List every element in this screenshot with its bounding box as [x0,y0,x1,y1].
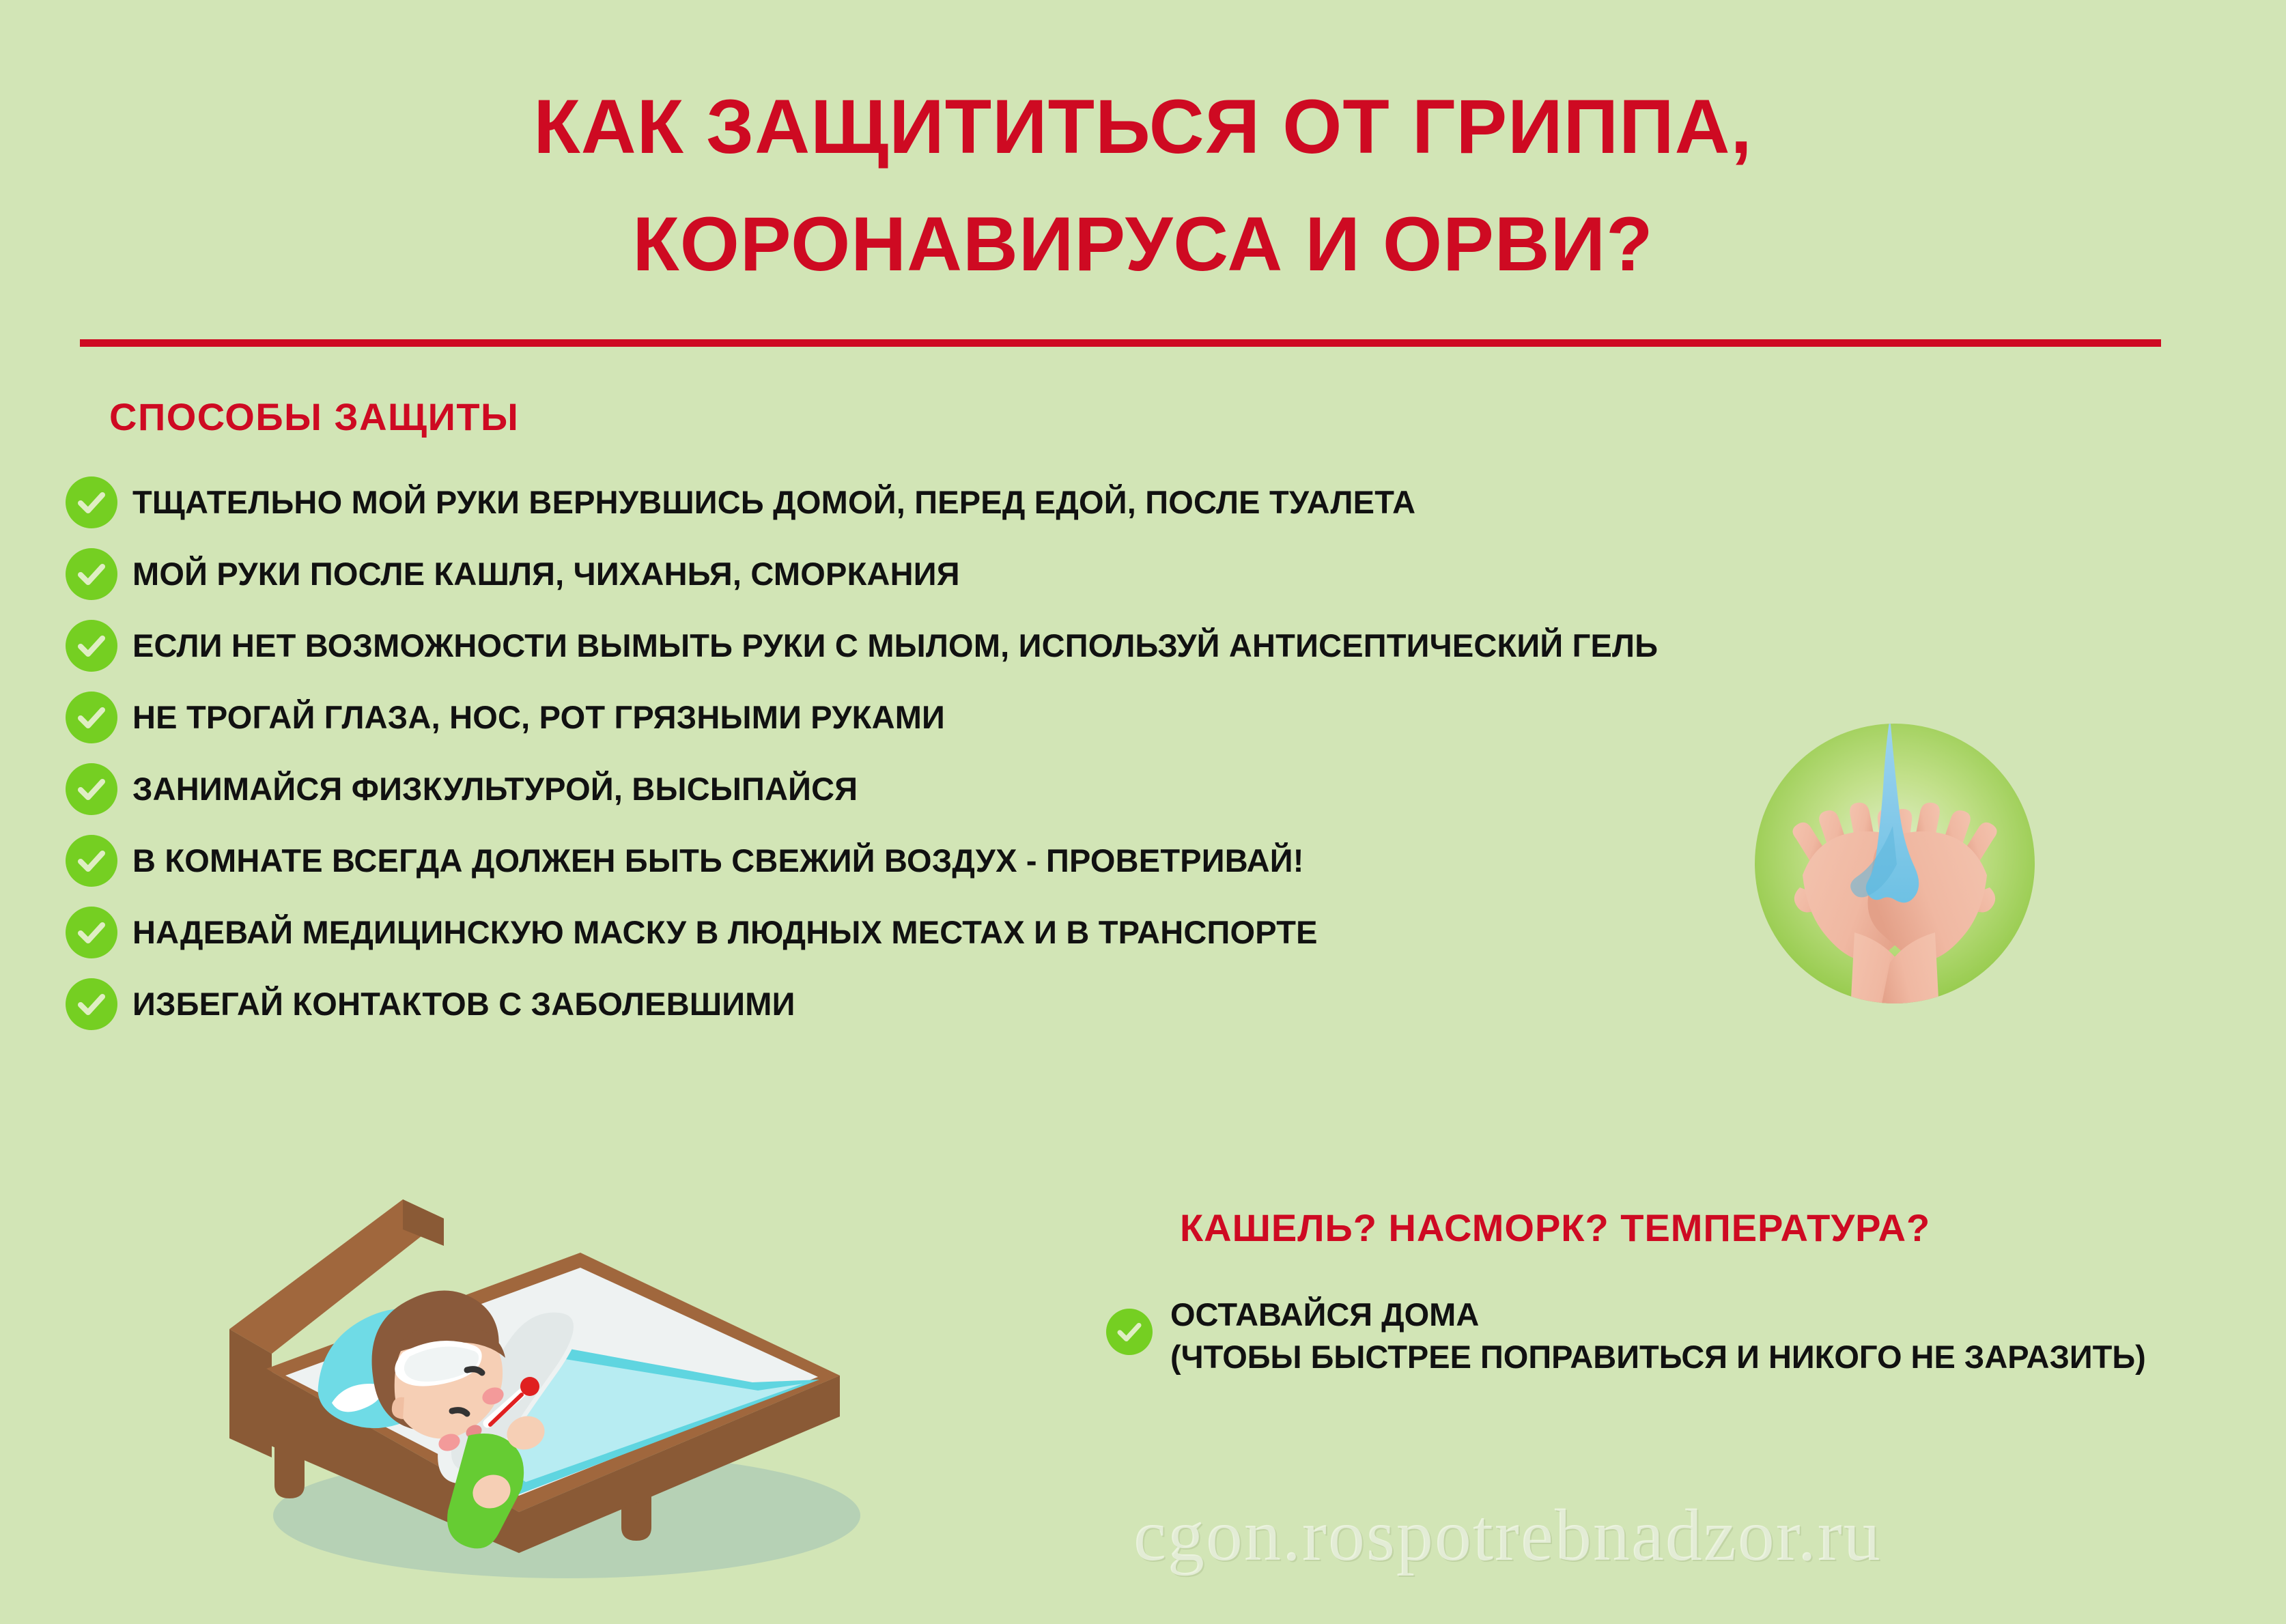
page-title: КАК ЗАЩИТИТЬСЯ ОТ ГРИППА, КОРОНАВИРУСА И… [0,68,2286,303]
list-item: ТЩАТЕЛЬНО МОЙ РУКИ ВЕРНУВШИСЬ ДОМОЙ, ПЕР… [66,476,1704,528]
list-item-label: МОЙ РУКИ ПОСЛЕ КАШЛЯ, ЧИХАНЬЯ, СМОРКАНИЯ [132,556,960,592]
check-circle-icon [66,978,117,1030]
stay-home-label: ОСТАВАЙСЯ ДОМА [1170,1296,1479,1333]
stay-home-text-group: ОСТАВАЙСЯ ДОМА (ЧТОБЫ БЫСТРЕЕ ПОПРАВИТЬС… [1170,1294,2267,1378]
check-circle-icon [66,620,117,672]
check-circle-icon [66,763,117,815]
check-circle-icon [66,476,117,528]
protection-section-heading: СПОСОБЫ ЗАЩИТЫ [109,395,519,440]
check-circle-icon [66,548,117,600]
list-item: НАДЕВАЙ МЕДИЦИНСКУЮ МАСКУ В ЛЮДНЫХ МЕСТА… [66,907,1704,958]
check-circle-icon [66,692,117,743]
sick-person-in-bed-icon [198,1171,922,1580]
protection-list: ТЩАТЕЛЬНО МОЙ РУКИ ВЕРНУВШИСЬ ДОМОЙ, ПЕР… [66,476,1704,1050]
page-title-line-2: КОРОНАВИРУСА И ОРВИ? [0,186,2286,303]
list-item-label: ЕСЛИ НЕТ ВОЗМОЖНОСТИ ВЫМЫТЬ РУКИ С МЫЛОМ… [132,628,1658,664]
list-item: ЕСЛИ НЕТ ВОЗМОЖНОСТИ ВЫМЫТЬ РУКИ С МЫЛОМ… [66,620,1704,672]
check-circle-icon [66,835,117,887]
list-item-label: НАДЕВАЙ МЕДИЦИНСКУЮ МАСКУ В ЛЮДНЫХ МЕСТА… [132,915,1318,950]
list-item-label: ИЗБЕГАЙ КОНТАКТОВ С ЗАБОЛЕВШИМИ [132,986,795,1022]
list-item: ИЗБЕГАЙ КОНТАКТОВ С ЗАБОЛЕВШИМИ [66,978,1704,1030]
list-item: ЗАНИМАЙСЯ ФИЗКУЛЬТУРОЙ, ВЫСЫПАЙСЯ [66,763,1704,815]
page-title-line-1: КАК ЗАЩИТИТЬСЯ ОТ ГРИППА, [0,68,2286,186]
list-item: В КОМНАТЕ ВСЕГДА ДОЛЖЕН БЫТЬ СВЕЖИЙ ВОЗД… [66,835,1704,887]
symptoms-heading: КАШЕЛЬ? НАСМОРК? ТЕМПЕРАТУРА? [1180,1206,1930,1251]
title-divider [80,339,2161,347]
stay-home-note: (ЧТОБЫ БЫСТРЕЕ ПОПРАВИТЬСЯ И НИКОГО НЕ З… [1170,1339,2146,1375]
list-item-label: В КОМНАТЕ ВСЕГДА ДОЛЖЕН БЫТЬ СВЕЖИЙ ВОЗД… [132,843,1304,879]
check-circle-icon [66,907,117,958]
check-circle-icon [1106,1309,1153,1355]
washing-hands-under-water-icon [1734,703,2055,1024]
list-item: МОЙ РУКИ ПОСЛЕ КАШЛЯ, ЧИХАНЬЯ, СМОРКАНИЯ [66,548,1704,600]
source-watermark: cgon.rospotrebnadzor.ru [1133,1495,1882,1577]
list-item-label: ЗАНИМАЙСЯ ФИЗКУЛЬТУРОЙ, ВЫСЫПАЙСЯ [132,771,858,807]
infographic-poster: КАК ЗАЩИТИТЬСЯ ОТ ГРИППА, КОРОНАВИРУСА И… [0,0,2286,1624]
stay-home-advice: ОСТАВАЙСЯ ДОМА (ЧТОБЫ БЫСТРЕЕ ПОПРАВИТЬС… [1106,1294,2267,1378]
list-item-label: ТЩАТЕЛЬНО МОЙ РУКИ ВЕРНУВШИСЬ ДОМОЙ, ПЕР… [132,485,1415,520]
list-item: НЕ ТРОГАЙ ГЛАЗА, НОС, РОТ ГРЯЗНЫМИ РУКАМ… [66,692,1704,743]
list-item-label: НЕ ТРОГАЙ ГЛАЗА, НОС, РОТ ГРЯЗНЫМИ РУКАМ… [132,700,945,735]
